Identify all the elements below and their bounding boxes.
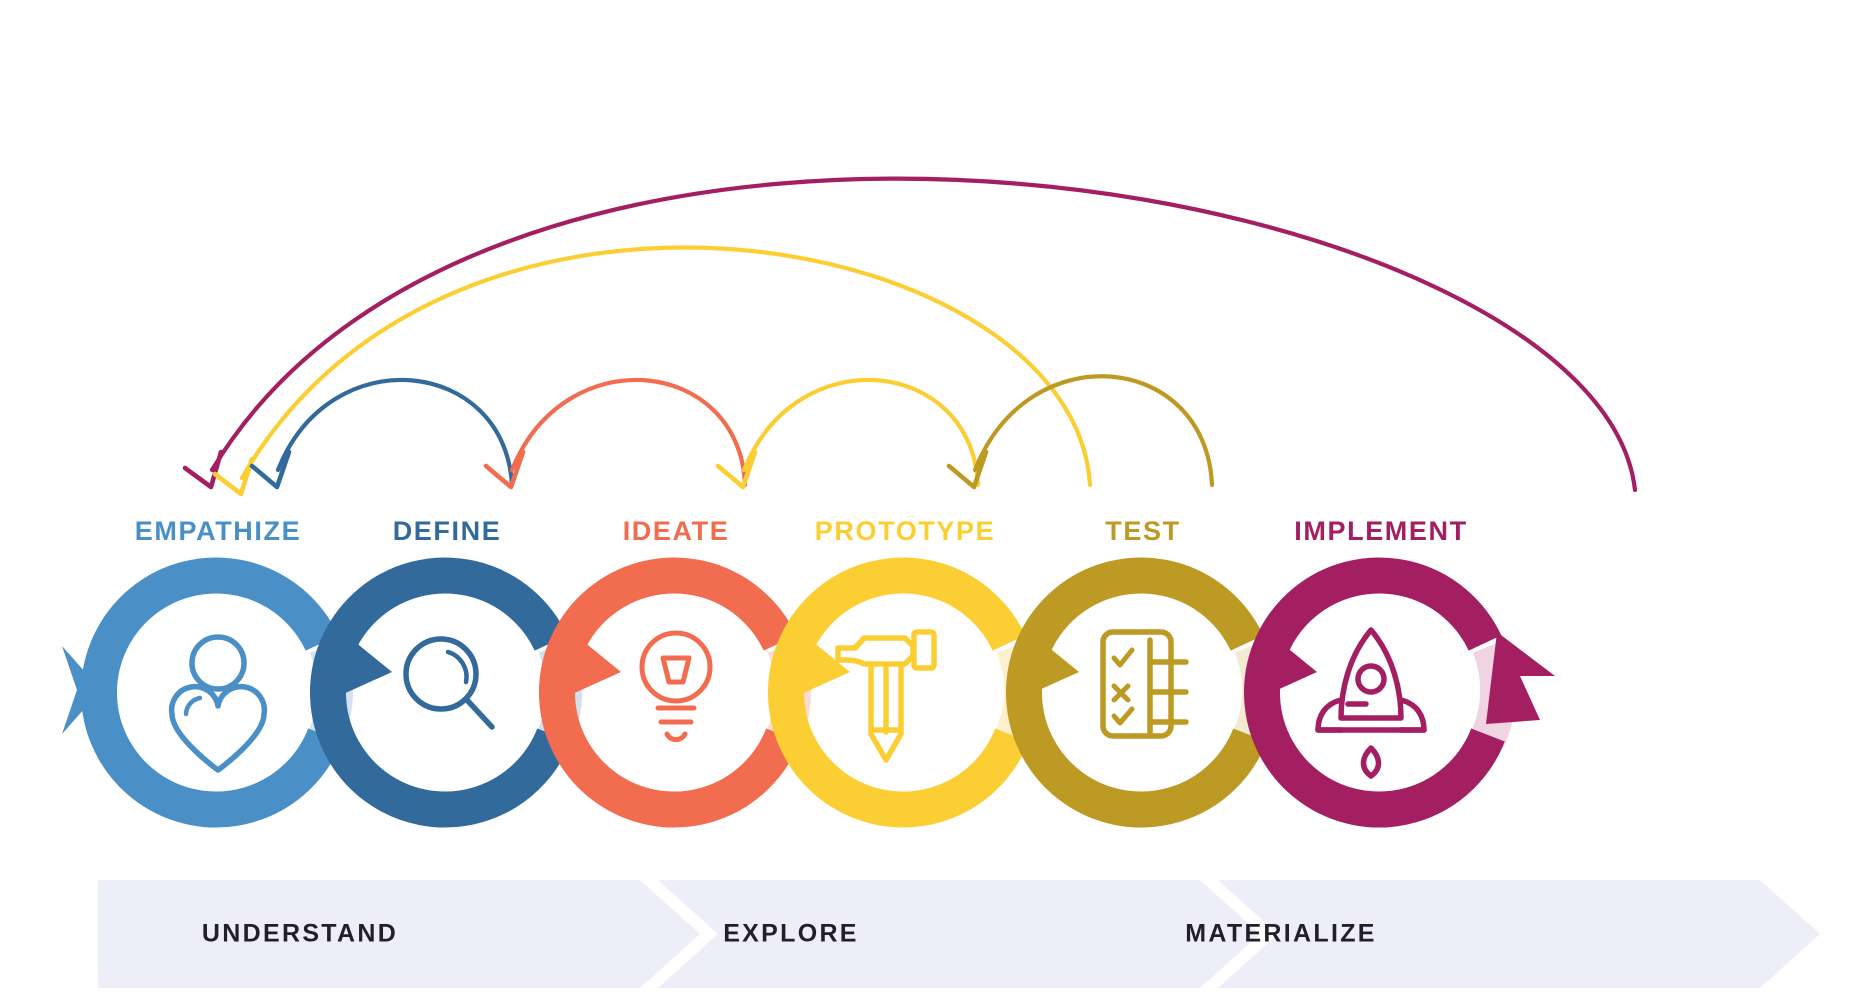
phase-label-understand: UNDERSTAND — [202, 920, 398, 949]
phase-label-explore: EXPLORE — [723, 920, 859, 949]
design-thinking-diagram: EMPATHIZE DEFINE IDEATE PROTOTYPE TEST I… — [0, 0, 1862, 1000]
phase-labels-layer: UNDERSTAND EXPLORE MATERIALIZE — [0, 0, 1862, 1000]
phase-label-materialize: MATERIALIZE — [1185, 920, 1377, 949]
